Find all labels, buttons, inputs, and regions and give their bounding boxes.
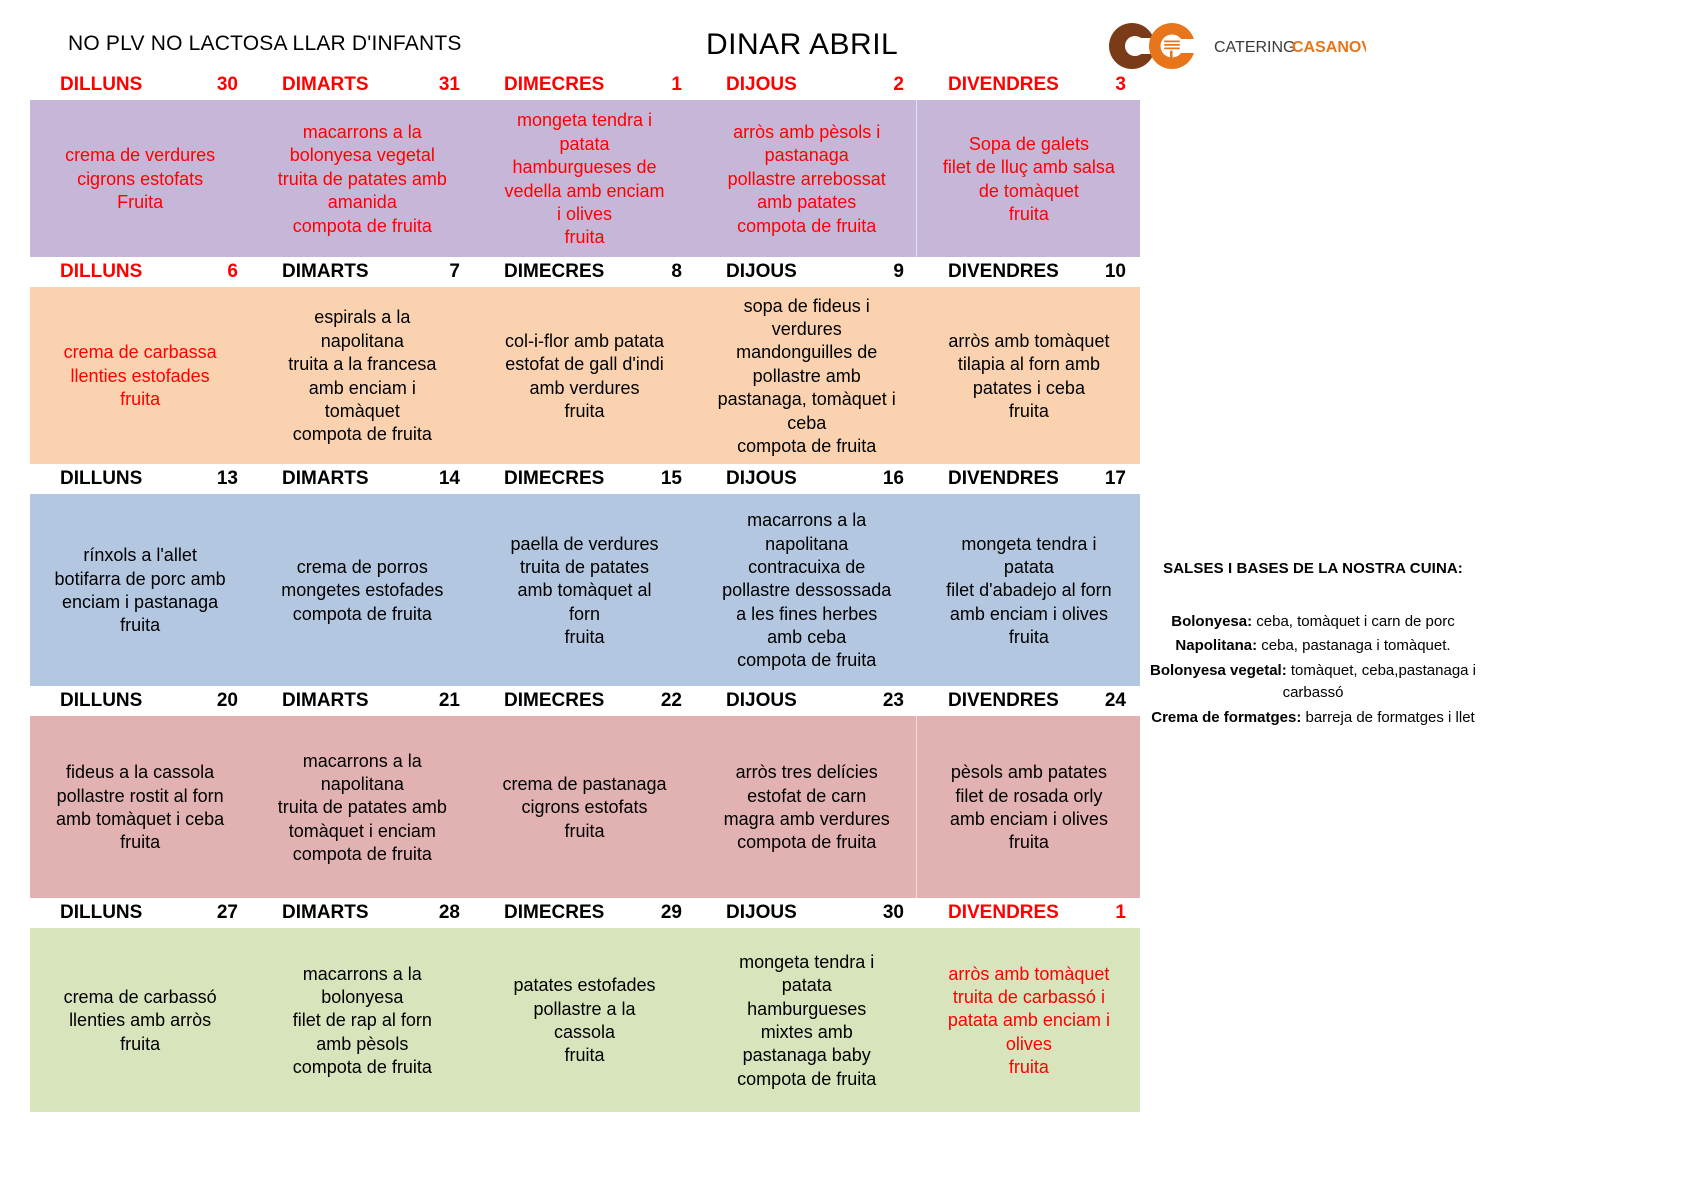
- day-header: DIVENDRES 3: [918, 74, 1140, 96]
- sauce-desc: ceba, tomàquet i carn de porc: [1252, 613, 1455, 630]
- day-header: DIJOUS 2: [696, 74, 918, 96]
- day-header: DIMECRES 1: [474, 74, 696, 96]
- day-number: 22: [651, 690, 682, 712]
- day-header: DIVENDRES 10: [918, 261, 1140, 283]
- day-name: DIMARTS: [282, 690, 369, 712]
- day-number: 20: [207, 690, 238, 712]
- day-number: 30: [207, 74, 238, 96]
- day-number: 3: [1105, 74, 1126, 96]
- day-name: DIMECRES: [504, 468, 604, 490]
- meal-cell: sopa de fideus i verdures mandonguilles …: [696, 287, 918, 464]
- diet-note: NO PLV NO LACTOSA LLAR D'INFANTS: [68, 32, 462, 56]
- sauce-item: Bolonyesa: ceba, tomàquet i carn de porc: [1148, 611, 1478, 634]
- day-name: DIVENDRES: [948, 74, 1059, 96]
- day-name: DIJOUS: [726, 690, 797, 712]
- orange-c-fork-icon: [1149, 23, 1198, 69]
- day-name: DIMECRES: [504, 74, 604, 96]
- day-header: DILLUNS 6: [30, 261, 252, 283]
- day-name: DIJOUS: [726, 902, 797, 924]
- day-number: 8: [661, 261, 682, 283]
- day-number: 7: [439, 261, 460, 283]
- sauce-name: Crema de formatges:: [1151, 709, 1301, 726]
- week-day-headers: DILLUNS 20 DIMARTS 21 DIMECRES 22 DIJOUS…: [30, 686, 1140, 716]
- week-day-headers: DILLUNS 30 DIMARTS 31 DIMECRES 1 DIJOUS …: [30, 70, 1140, 100]
- sauces-panel: SALSES I BASES DE LA NOSTRA CUINA: Bolon…: [1148, 558, 1478, 731]
- day-number: 2: [883, 74, 904, 96]
- day-header: DIMARTS 31: [252, 74, 474, 96]
- sauce-desc: barreja de formatges i llet: [1301, 709, 1474, 726]
- day-header: DIMECRES 29: [474, 902, 696, 924]
- meal-cell: macarrons a la bolonyesa vegetal truita …: [251, 100, 473, 257]
- meal-cell: mongeta tendra i patata filet d'abadejo …: [918, 494, 1140, 686]
- menu-calendar: DILLUNS 30 DIMARTS 31 DIMECRES 1 DIJOUS …: [30, 70, 1140, 1112]
- day-number: 16: [873, 468, 904, 490]
- day-header: DIMECRES 15: [474, 468, 696, 490]
- day-name: DIMECRES: [504, 902, 604, 924]
- meal-cell: macarrons a la bolonyesa filet de rap al…: [251, 928, 473, 1112]
- day-name: DIMECRES: [504, 261, 604, 283]
- sauce-desc: tomàquet, ceba,pastanaga i carbassó: [1283, 662, 1476, 702]
- day-name: DIJOUS: [726, 261, 797, 283]
- week-meals: crema de carbassa llenties estofades fru…: [30, 287, 1140, 464]
- day-number: 29: [651, 902, 682, 924]
- week-meals: crema de verdures cigrons estofats Fruit…: [30, 100, 1140, 257]
- day-number: 1: [1105, 902, 1126, 924]
- meal-cell: espirals a la napolitana truita a la fra…: [251, 287, 473, 464]
- sauce-desc: ceba, pastanaga i tomàquet.: [1257, 637, 1450, 654]
- week-day-headers: DILLUNS 13 DIMARTS 14 DIMECRES 15 DIJOUS…: [30, 464, 1140, 494]
- day-header: DIMARTS 28: [252, 902, 474, 924]
- sauce-name: Napolitana:: [1175, 637, 1257, 654]
- meal-cell: fideus a la cassola pollastre rostit al …: [30, 716, 251, 898]
- day-name: DILLUNS: [60, 902, 142, 924]
- day-header: DIMARTS 7: [252, 261, 474, 283]
- meal-cell: mongeta tendra i patata hamburgueses de …: [473, 100, 695, 257]
- day-header: DIJOUS 9: [696, 261, 918, 283]
- meal-cell: crema de pastanaga cigrons estofats frui…: [473, 716, 695, 898]
- logo-text-catering: CATERING: [1214, 39, 1295, 56]
- day-name: DIMECRES: [504, 690, 604, 712]
- day-number: 21: [429, 690, 460, 712]
- day-header: DILLUNS 20: [30, 690, 252, 712]
- day-number: 23: [873, 690, 904, 712]
- day-number: 1: [661, 74, 682, 96]
- day-header: DIVENDRES 24: [918, 690, 1140, 712]
- day-number: 6: [217, 261, 238, 283]
- day-header: DIJOUS 30: [696, 902, 918, 924]
- day-number: 15: [651, 468, 682, 490]
- day-name: DIMARTS: [282, 74, 369, 96]
- day-header: DIJOUS 23: [696, 690, 918, 712]
- meal-cell: patates estofades pollastre a la cassola…: [473, 928, 695, 1112]
- day-name: DIVENDRES: [948, 468, 1059, 490]
- week-meals: rínxols a l'allet botifarra de porc amb …: [30, 494, 1140, 686]
- menu-page: NO PLV NO LACTOSA LLAR D'INFANTS DINAR A…: [0, 0, 1683, 1190]
- day-number: 24: [1095, 690, 1126, 712]
- day-number: 27: [207, 902, 238, 924]
- week-row: DILLUNS 30 DIMARTS 31 DIMECRES 1 DIJOUS …: [30, 70, 1140, 257]
- sauce-name: Bolonyesa:: [1171, 613, 1252, 630]
- meal-cell: crema de carbassa llenties estofades fru…: [30, 287, 251, 464]
- catering-casanovas-logo: CATERING CASANOVAS: [1106, 22, 1366, 70]
- sauce-item: Crema de formatges: barreja de formatges…: [1148, 707, 1478, 730]
- meal-cell: crema de carbassó llenties amb arròs fru…: [30, 928, 251, 1112]
- week-day-headers: DILLUNS 27 DIMARTS 28 DIMECRES 29 DIJOUS…: [30, 898, 1140, 928]
- meal-cell: arròs amb tomàquet tilapia al forn amb p…: [918, 287, 1140, 464]
- page-title: DINAR ABRIL: [706, 28, 898, 62]
- day-number: 31: [429, 74, 460, 96]
- day-name: DILLUNS: [60, 690, 142, 712]
- day-header: DIVENDRES 1: [918, 902, 1140, 924]
- day-header: DIMARTS 14: [252, 468, 474, 490]
- day-name: DIMARTS: [282, 468, 369, 490]
- sauce-item: Napolitana: ceba, pastanaga i tomàquet.: [1148, 635, 1478, 658]
- day-name: DIVENDRES: [948, 902, 1059, 924]
- meal-cell: rínxols a l'allet botifarra de porc amb …: [30, 494, 251, 686]
- meal-cell: crema de porros mongetes estofades compo…: [251, 494, 473, 686]
- day-number: 14: [429, 468, 460, 490]
- day-name: DIMARTS: [282, 902, 369, 924]
- meal-cell: mongeta tendra i patata hamburgueses mix…: [696, 928, 918, 1112]
- meal-cell: col-i-flor amb patata estofat de gall d'…: [473, 287, 695, 464]
- day-header: DILLUNS 13: [30, 468, 252, 490]
- day-header: DIVENDRES 17: [918, 468, 1140, 490]
- sauce-item: Bolonyesa vegetal: tomàquet, ceba,pastan…: [1148, 660, 1478, 705]
- week-meals: fideus a la cassola pollastre rostit al …: [30, 716, 1140, 898]
- day-name: DIVENDRES: [948, 261, 1059, 283]
- week-row: DILLUNS 6 DIMARTS 7 DIMECRES 8 DIJOUS 9 …: [30, 257, 1140, 464]
- logo-mark-icon: CATERING CASANOVAS: [1106, 22, 1366, 70]
- day-name: DILLUNS: [60, 74, 142, 96]
- meal-cell: macarrons a la napolitana truita de pata…: [251, 716, 473, 898]
- day-header: DILLUNS 27: [30, 902, 252, 924]
- day-name: DIVENDRES: [948, 690, 1059, 712]
- week-meals: crema de carbassó llenties amb arròs fru…: [30, 928, 1140, 1112]
- day-number: 17: [1095, 468, 1126, 490]
- meal-cell: arròs amb tomàquet truita de carbassó i …: [918, 928, 1140, 1112]
- day-header: DIJOUS 16: [696, 468, 918, 490]
- day-header: DIMECRES 8: [474, 261, 696, 283]
- sauce-name: Bolonyesa vegetal:: [1150, 662, 1287, 679]
- day-name: DIMARTS: [282, 261, 369, 283]
- week-row: DILLUNS 20 DIMARTS 21 DIMECRES 22 DIJOUS…: [30, 686, 1140, 898]
- meal-cell: Sopa de galets filet de lluç amb salsa d…: [918, 100, 1140, 257]
- week-row: DILLUNS 13 DIMARTS 14 DIMECRES 15 DIJOUS…: [30, 464, 1140, 686]
- meal-cell: arròs tres delícies estofat de carn magr…: [696, 716, 918, 898]
- meal-cell: pèsols amb patates filet de rosada orly …: [918, 716, 1140, 898]
- meal-cell: crema de verdures cigrons estofats Fruit…: [30, 100, 251, 257]
- day-number: 9: [883, 261, 904, 283]
- day-number: 28: [429, 902, 460, 924]
- logo-text-casanovas: CASANOVAS: [1292, 39, 1366, 56]
- meal-cell: paella de verdures truita de patates amb…: [473, 494, 695, 686]
- meal-cell: arròs amb pèsols i pastanaga pollastre a…: [696, 100, 918, 257]
- week-row: DILLUNS 27 DIMARTS 28 DIMECRES 29 DIJOUS…: [30, 898, 1140, 1112]
- day-number: 13: [207, 468, 238, 490]
- day-header: DIMARTS 21: [252, 690, 474, 712]
- day-header: DILLUNS 30: [30, 74, 252, 96]
- meal-cell: macarrons a la napolitana contracuixa de…: [696, 494, 918, 686]
- day-name: DILLUNS: [60, 261, 142, 283]
- day-number: 10: [1095, 261, 1126, 283]
- sauces-title: SALSES I BASES DE LA NOSTRA CUINA:: [1148, 558, 1478, 581]
- day-number: 30: [873, 902, 904, 924]
- day-header: DIMECRES 22: [474, 690, 696, 712]
- day-name: DILLUNS: [60, 468, 142, 490]
- day-name: DIJOUS: [726, 468, 797, 490]
- week-day-headers: DILLUNS 6 DIMARTS 7 DIMECRES 8 DIJOUS 9 …: [30, 257, 1140, 287]
- day-name: DIJOUS: [726, 74, 797, 96]
